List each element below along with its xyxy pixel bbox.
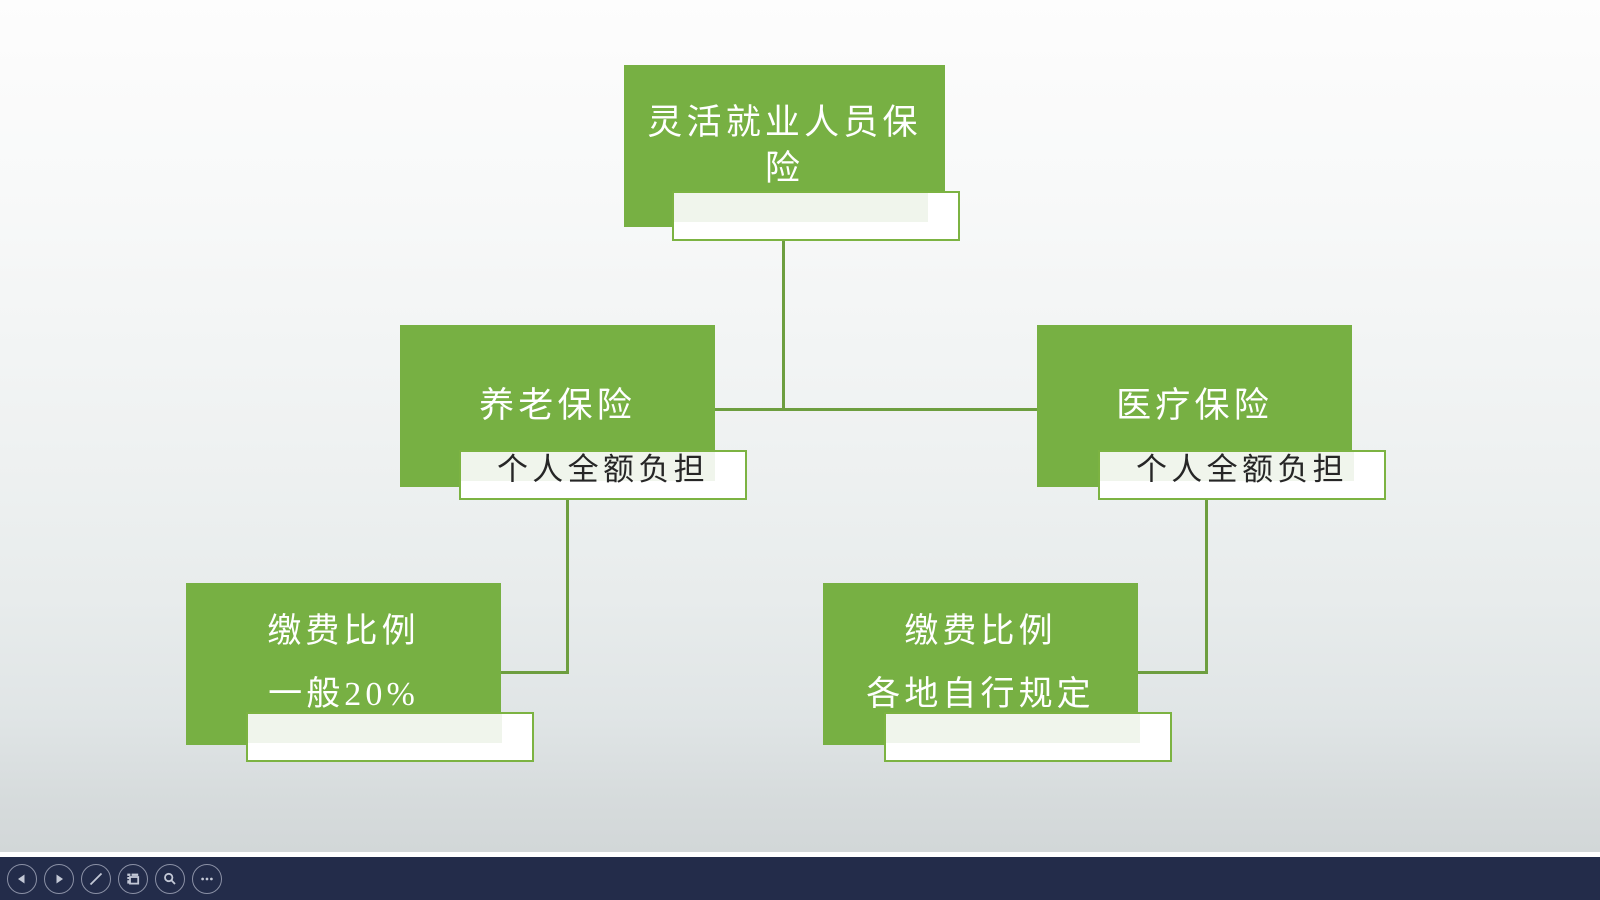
diagram-callout-medical[interactable]: 个人全额负担: [1098, 450, 1386, 500]
connector-pension-to-child-vertical: [566, 500, 569, 674]
next-slide-button[interactable]: [44, 864, 74, 894]
connector-medical-to-child-vertical: [1205, 500, 1208, 674]
medical-rate-line-1: 缴费比例: [904, 610, 1056, 655]
zoom-slide-button[interactable]: [155, 864, 185, 894]
ellipsis-icon: [198, 870, 216, 888]
slideshow-navigation-bar: [0, 857, 1600, 900]
magnifier-icon: [161, 870, 179, 888]
pen-tool-button[interactable]: [81, 864, 111, 894]
callout-fill-band: [886, 714, 1140, 743]
presentation-slideshow: 灵活就业人员保 险 养老保险 个人全额负担 医疗保险 个人全额负担 缴费比例 一…: [0, 0, 1600, 900]
callout-fill-band: [248, 714, 502, 743]
callout-medical-text: 个人全额负担: [1136, 452, 1348, 487]
pen-icon: [87, 870, 105, 888]
callout-pension-text: 个人全额负担: [497, 452, 709, 487]
triangle-left-icon: [15, 872, 29, 886]
all-slides-button[interactable]: [118, 864, 148, 894]
pension-label: 养老保险: [479, 383, 636, 429]
diagram-callout-medical-rate[interactable]: [884, 712, 1172, 762]
connector-root-to-level2-vertical: [782, 241, 785, 411]
root-title-line-2: 险: [765, 146, 804, 192]
slide-canvas: 灵活就业人员保 险 养老保险 个人全额负担 医疗保险 个人全额负担 缴费比例 一…: [0, 0, 1600, 852]
triangle-right-icon: [52, 872, 66, 886]
diagram-callout-root[interactable]: [672, 191, 960, 241]
medical-label: 医疗保险: [1116, 383, 1273, 429]
previous-slide-button[interactable]: [7, 864, 37, 894]
diagram-callout-pension-rate[interactable]: [246, 712, 534, 762]
grid-slides-icon: [124, 870, 142, 888]
diagram-callout-pension[interactable]: 个人全额负担: [459, 450, 747, 500]
connector-medical-to-child-horizontal: [1137, 671, 1208, 674]
more-options-button[interactable]: [192, 864, 222, 894]
connector-pension-to-child-horizontal: [499, 671, 569, 674]
connector-level2-horizontal: [713, 408, 1039, 411]
pension-rate-line-1: 缴费比例: [267, 610, 419, 655]
root-title-line-1: 灵活就业人员保: [647, 100, 921, 146]
callout-fill-band: [674, 193, 928, 222]
